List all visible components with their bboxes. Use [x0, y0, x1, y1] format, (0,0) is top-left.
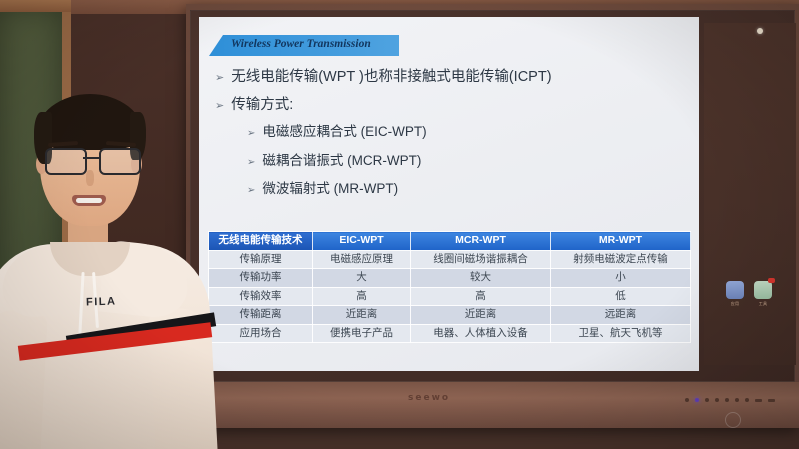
bullet-text: 电磁感应耦合式 (EIC-WPT) — [262, 124, 426, 140]
bezel-indicator-icon — [768, 399, 775, 402]
table-cell: 近距离 — [313, 306, 411, 325]
table-row-label: 传输原理 — [209, 250, 313, 269]
table-cell: 卫星、航天飞机等 — [551, 324, 691, 343]
bullet-arrow-icon: ➢ — [247, 158, 255, 168]
chalkboard-frame — [0, 0, 71, 12]
presenter-mouth — [72, 195, 106, 206]
comparison-table: 无线电能传输技术 EIC-WPT MCR-WPT MR-WPT 传输原理 电磁感… — [208, 231, 691, 343]
table-row-label: 应用场合 — [209, 324, 313, 343]
presenter-glasses — [43, 148, 139, 172]
slide-title-banner: Wireless Power Transmission — [209, 35, 399, 56]
table-row: 传输原理 电磁感应原理 线圈间磁场谐振耦合 射频电磁波定点传输 — [209, 250, 691, 269]
bullet-item-2: ➢ 传输方式: — [215, 97, 687, 114]
bezel-button[interactable] — [715, 398, 719, 402]
table-cell: 远距离 — [551, 306, 691, 325]
table-cell: 射频电磁波定点传输 — [551, 250, 691, 269]
bezel-button[interactable] — [725, 398, 729, 402]
table-row-label: 传输功率 — [209, 269, 313, 288]
bullet-text: 微波辐射式 (MR-WPT) — [262, 181, 398, 197]
table-row-label: 传输效率 — [209, 287, 313, 306]
table-row: 应用场合 便携电子产品 电器、人体植入设备 卫星、航天飞机等 — [209, 324, 691, 343]
glasses-lens-right — [99, 148, 141, 175]
classroom-scene: Wireless Power Transmission ➢ 无线电能传输(WPT… — [0, 0, 799, 449]
bezel-button[interactable] — [685, 398, 689, 402]
bullet-arrow-icon: ➢ — [247, 186, 255, 196]
bullet-arrow-icon: ➢ — [247, 129, 255, 139]
glasses-lens-left — [45, 148, 87, 175]
table-cell: 近距离 — [411, 306, 551, 325]
table-cell: 大 — [313, 269, 411, 288]
table-cell: 线圈间磁场谐振耦合 — [411, 250, 551, 269]
bezel-button-row[interactable] — [685, 398, 775, 402]
bullet-text: 磁耦合谐振式 (MCR-WPT) — [262, 153, 421, 169]
dock-shortcut-1[interactable]: 应用 — [726, 281, 744, 307]
table-row-label: 传输距离 — [209, 306, 313, 325]
presenter-teeth — [76, 198, 102, 203]
presenter-left-arm — [0, 308, 48, 449]
presenter-nose — [86, 170, 94, 186]
dock-icon-label: 应用 — [731, 301, 739, 307]
bullet-arrow-icon: ➢ — [215, 101, 224, 112]
glasses-bridge — [83, 157, 99, 159]
slide-bullet-list: ➢ 无线电能传输(WPT )也称非接触式电能传输(ICPT) ➢ 传输方式: ➢… — [215, 69, 687, 210]
display-bezel: Wireless Power Transmission ➢ 无线电能传输(WPT… — [190, 10, 795, 382]
dock-icon-label: 工具 — [759, 301, 767, 307]
table-header-row: 无线电能传输技术 EIC-WPT MCR-WPT MR-WPT — [209, 232, 691, 251]
slide-title: Wireless Power Transmission — [231, 38, 371, 50]
bullet-text: 无线电能传输(WPT )也称非接触式电能传输(ICPT) — [231, 69, 551, 86]
bullet-item-1: ➢ 无线电能传输(WPT )也称非接触式电能传输(ICPT) — [215, 69, 687, 86]
table-row: 传输距离 近距离 近距离 远距离 — [209, 306, 691, 325]
table-header-cell: EIC-WPT — [313, 232, 411, 251]
app-icon-green[interactable] — [754, 281, 772, 299]
table-cell: 电器、人体植入设备 — [411, 324, 551, 343]
table-cell: 较大 — [411, 269, 551, 288]
table-cell: 电磁感应原理 — [313, 250, 411, 269]
bezel-sensor-ring-icon — [725, 412, 741, 428]
table-row: 传输效率 高 高 低 — [209, 287, 691, 306]
bezel-button[interactable] — [745, 398, 749, 402]
table-cell: 高 — [313, 287, 411, 306]
dock-icon-group: 应用 工具 — [726, 281, 772, 307]
hoodie-brand-text: FILA — [86, 295, 117, 308]
display-bottom-bezel: seewo — [186, 382, 799, 428]
table-cell: 小 — [551, 269, 691, 288]
table-header-cell: 无线电能传输技术 — [209, 232, 313, 251]
bullet-item-4: ➢ 磁耦合谐振式 (MCR-WPT) — [247, 153, 687, 169]
bullet-text: 传输方式: — [231, 97, 293, 114]
bezel-power-button[interactable] — [695, 398, 699, 402]
dock-shortcut-2[interactable]: 工具 — [754, 281, 772, 307]
interactive-display-unit[interactable]: Wireless Power Transmission ➢ 无线电能传输(WPT… — [186, 4, 799, 428]
table-cell: 低 — [551, 287, 691, 306]
bullet-arrow-icon: ➢ — [215, 73, 224, 84]
presenter: FILA — [0, 96, 200, 449]
notification-badge — [768, 278, 775, 283]
app-icon-blue[interactable] — [726, 281, 744, 299]
bullet-item-3: ➢ 电磁感应耦合式 (EIC-WPT) — [247, 124, 687, 140]
bullet-item-5: ➢ 微波辐射式 (MR-WPT) — [247, 181, 687, 197]
table-cell: 便携电子产品 — [313, 324, 411, 343]
presentation-slide: Wireless Power Transmission ➢ 无线电能传输(WPT… — [199, 17, 699, 371]
display-brand-label: seewo — [408, 393, 450, 403]
camera-sensor-icon — [757, 28, 763, 34]
bezel-button[interactable] — [705, 398, 709, 402]
bezel-button[interactable] — [735, 398, 739, 402]
display-side-dock: 应用 工具 — [704, 23, 796, 365]
table-cell: 高 — [411, 287, 551, 306]
table-header-cell: MR-WPT — [551, 232, 691, 251]
bezel-ir-receiver-icon — [755, 399, 762, 402]
table-header-cell: MCR-WPT — [411, 232, 551, 251]
table-row: 传输功率 大 较大 小 — [209, 269, 691, 288]
display-screen[interactable]: Wireless Power Transmission ➢ 无线电能传输(WPT… — [199, 17, 699, 371]
